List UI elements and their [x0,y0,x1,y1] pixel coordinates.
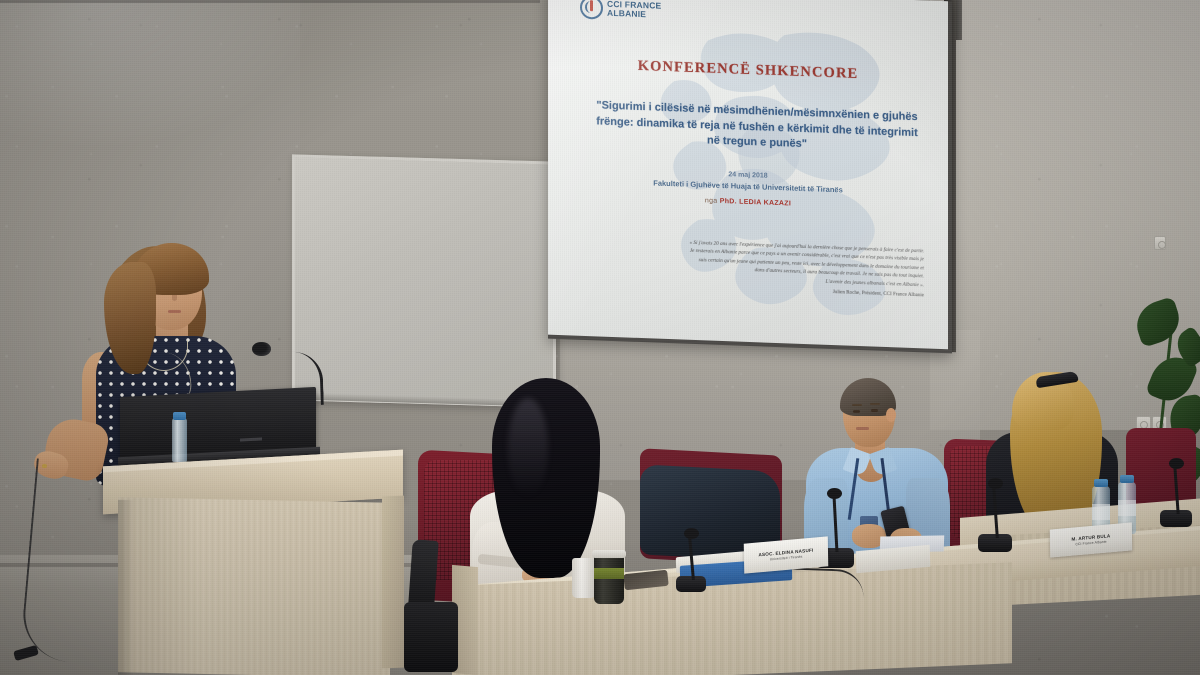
panelist-center-eyebrow [870,403,880,405]
water-bottle-label [1118,500,1136,516]
water-bottle-cap [173,412,186,420]
coffee-cup-sleeve [594,568,624,579]
panelist-center-eyebrow [852,404,862,406]
coffee-cup-lid [592,550,626,558]
projection-screen: CCI FRANCE ALBANIE KONFERENCË SHKENCORE … [548,0,952,353]
lectern-shadow [118,500,134,675]
cci-france-albanie-logo: CCI FRANCE ALBANIE [580,0,661,22]
water-bottle [172,418,187,462]
paper-cup [572,558,596,598]
panelist-center-eye [871,409,878,412]
microphone-icon [988,478,1003,489]
whiteboard [292,154,556,407]
whiteboard-surface [295,157,553,404]
water-bottle-label [1092,504,1110,520]
office-chair-base [404,602,458,672]
lectern-side-panel [382,496,404,669]
panelist-center-ear [886,408,896,422]
slide-author-prefix: nga [705,197,718,204]
microphone-icon [252,342,271,356]
water-bottle-cap [1094,479,1108,487]
lectern-body [118,497,390,675]
presenter-mouth [168,310,181,313]
panelist-center-eye [853,410,860,413]
ceiling-light-glow [0,0,320,150]
coffee-cup [594,554,624,604]
cci-logo-text: CCI FRANCE ALBANIE [607,0,661,19]
water-bottle-cap [1120,475,1134,483]
panelist-left-hair-highlight [508,398,548,498]
panelist-center-mouth [856,427,869,430]
panelist-left-hair [492,378,600,578]
conference-photo-scene: CCI FRANCE ALBANIE KONFERENCË SHKENCORE … [0,0,1200,675]
microphone-icon [1169,458,1184,469]
cci-logo-icon [580,0,603,20]
microphone-icon [684,528,699,539]
ceiling-seam [0,0,540,3]
slide-surface: CCI FRANCE ALBANIE KONFERENCË SHKENCORE … [548,0,948,349]
nameplate-role: Universiteti i Tiranës [770,555,803,562]
microphone-icon [827,488,842,499]
nameplate-role: CCI France Albanie [1075,540,1106,547]
wall-socket [1154,236,1166,250]
